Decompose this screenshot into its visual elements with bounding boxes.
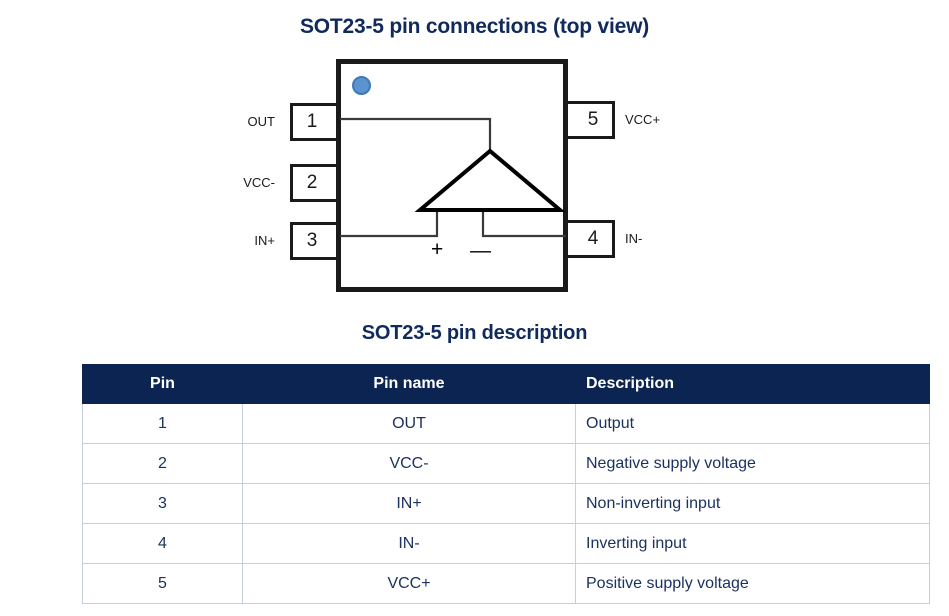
cell-pin-name: IN-	[243, 524, 576, 564]
table-row: 1 OUT Output	[83, 404, 930, 444]
cell-pin-name: OUT	[243, 404, 576, 444]
pin-label-vcc-negative: VCC-	[243, 175, 275, 190]
pin-pad-5-number: 5	[588, 109, 599, 131]
cell-pin-number: 2	[83, 444, 243, 484]
pin-label-in-negative: IN-	[625, 231, 642, 246]
table-row: 5 VCC+ Positive supply voltage	[83, 564, 930, 604]
pin-pad-1-number: 1	[307, 111, 318, 133]
cell-pin-name: VCC-	[243, 444, 576, 484]
pin-pad-4: 4	[565, 220, 615, 258]
cell-pin-number: 5	[83, 564, 243, 604]
opamp-noninverting-sign: +	[431, 239, 443, 260]
pin-label-out: OUT	[248, 114, 275, 129]
pin-label-in-positive: IN+	[254, 233, 275, 248]
cell-pin-name: VCC+	[243, 564, 576, 604]
table-header: Pin Pin name Description	[83, 365, 930, 404]
column-header-description: Description	[576, 365, 930, 404]
pin-description-table: Pin Pin name Description 1 OUT Output 2 …	[82, 364, 930, 604]
page-title-pin-connections: SOT23-5 pin connections (top view)	[0, 15, 949, 39]
cell-pin-number: 1	[83, 404, 243, 444]
opamp-inverting-sign: —	[470, 240, 491, 261]
pin-pad-2: 2	[290, 164, 340, 202]
pin-label-vcc-positive: VCC+	[625, 112, 660, 127]
pin-1-dot-icon	[352, 76, 371, 95]
table-header-row: Pin Pin name Description	[83, 365, 930, 404]
pin-pad-3: 3	[290, 222, 340, 260]
cell-pin-description: Output	[576, 404, 930, 444]
pin-pad-2-number: 2	[307, 172, 318, 194]
cell-pin-name: IN+	[243, 484, 576, 524]
pin-pad-5: 5	[565, 101, 615, 139]
table-row: 4 IN- Inverting input	[83, 524, 930, 564]
datasheet-pinout-page: SOT23-5 pin connections (top view) 1 2 3…	[0, 0, 949, 616]
table-row: 2 VCC- Negative supply voltage	[83, 444, 930, 484]
cell-pin-number: 4	[83, 524, 243, 564]
table-row: 3 IN+ Non-inverting input	[83, 484, 930, 524]
column-header-pin: Pin	[83, 365, 243, 404]
table-body: 1 OUT Output 2 VCC- Negative supply volt…	[83, 404, 930, 604]
cell-pin-number: 3	[83, 484, 243, 524]
pin-pad-3-number: 3	[307, 230, 318, 252]
cell-pin-description: Non-inverting input	[576, 484, 930, 524]
pin-pad-4-number: 4	[588, 228, 599, 250]
cell-pin-description: Positive supply voltage	[576, 564, 930, 604]
cell-pin-description: Negative supply voltage	[576, 444, 930, 484]
package-body-outline	[336, 59, 568, 292]
cell-pin-description: Inverting input	[576, 524, 930, 564]
pin-pad-1: 1	[290, 103, 340, 141]
package-diagram: 1 2 3 5 4 OUT VCC- IN+ VCC+ IN-	[0, 50, 949, 310]
page-title-pin-description: SOT23-5 pin description	[0, 322, 949, 345]
column-header-pin-name: Pin name	[243, 365, 576, 404]
